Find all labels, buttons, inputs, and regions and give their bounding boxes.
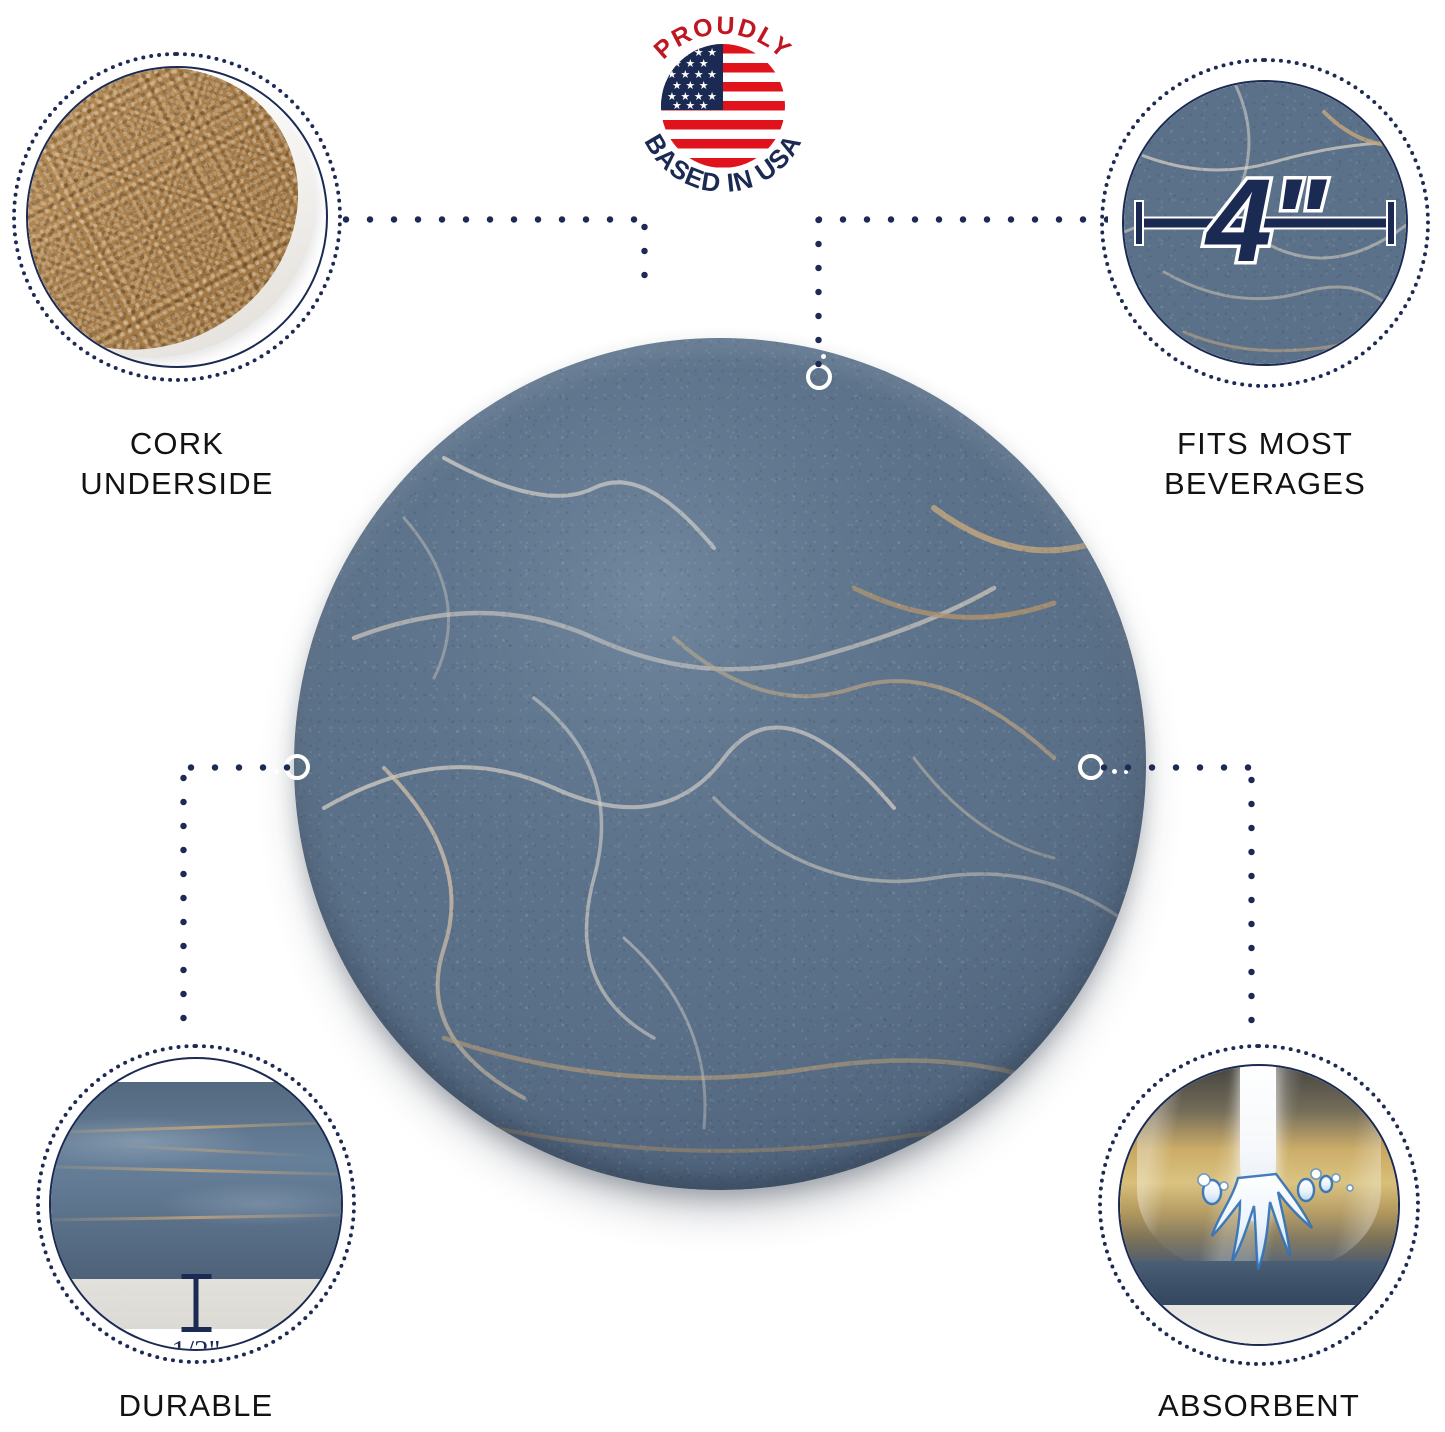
proudly-based-in-usa-badge: ★ ★ ★ ★ ★ ★ ★ ★ ★ ★ ★ ★ ★ ★ ★ ★ ★ ★ ★ ★ … xyxy=(615,2,830,210)
diameter-measure-icon: 4" xyxy=(1124,82,1406,364)
dimension-cap-right xyxy=(1386,200,1396,246)
callout-label-line: UNDERSIDE xyxy=(12,464,342,504)
callout-label-absorbent: ABSORBENT xyxy=(1098,1386,1420,1426)
connector-cork-horizontal xyxy=(335,216,645,223)
product-coaster-image xyxy=(294,338,1146,1190)
coaster-rim xyxy=(294,338,1146,1190)
callout-fits-most-beverages[interactable]: 4" xyxy=(1100,58,1430,388)
callout-label-durable: DURABLE xyxy=(36,1386,356,1426)
callout-durable[interactable]: 1/2" xyxy=(36,1044,356,1364)
stone-layer xyxy=(51,1082,341,1279)
cork-disc-icon xyxy=(28,68,326,366)
callout-label-line: ABSORBENT xyxy=(1098,1386,1420,1426)
thickness-marker xyxy=(194,1274,199,1332)
callout-cork-underside[interactable] xyxy=(12,52,342,382)
callout-absorbent[interactable] xyxy=(1098,1044,1420,1366)
callout-label-fits-most-beverages: FITS MOST BEVERAGES xyxy=(1100,424,1430,503)
svg-text:★ ★ ★: ★ ★ ★ xyxy=(672,99,709,112)
callout-label-line: FITS MOST xyxy=(1100,424,1430,464)
splash-crown xyxy=(1120,1066,1398,1344)
usa-flag-circle-icon: ★ ★ ★ ★ ★ ★ ★ ★ ★ ★ ★ ★ ★ ★ ★ ★ ★ ★ ★ ★ … xyxy=(615,2,830,210)
dimension-cap-left xyxy=(1134,200,1144,246)
connector-beverages-vertical xyxy=(815,216,822,368)
connector-cork-vertical xyxy=(641,216,648,286)
connector-beverages-horizontal xyxy=(818,216,1108,223)
callout-label-line: CORK xyxy=(12,424,342,464)
connector-durable-horizontal xyxy=(180,764,298,771)
callout-label-line: DURABLE xyxy=(36,1386,356,1426)
connector-durable-vertical xyxy=(180,764,187,1032)
callout-solid-ring: 1/2" xyxy=(49,1057,343,1351)
coaster-disc xyxy=(294,338,1146,1190)
callout-label-cork-underside: CORK UNDERSIDE xyxy=(12,424,342,503)
diameter-value: 4" xyxy=(1206,168,1324,274)
callout-solid-ring xyxy=(1118,1064,1400,1346)
connector-absorbent-horizontal xyxy=(1100,764,1252,771)
water-splash-icon xyxy=(1120,1066,1398,1344)
cross-section-icon: 1/2" xyxy=(51,1059,341,1349)
callout-solid-ring: 4" xyxy=(1122,80,1408,366)
connector-absorbent-vertical xyxy=(1248,764,1255,1036)
callout-solid-ring xyxy=(26,66,328,368)
thickness-value: 1/2" xyxy=(172,1335,221,1350)
infographic-canvas: CORK UNDERSIDE xyxy=(0,0,1445,1432)
callout-label-line: BEVERAGES xyxy=(1100,464,1430,504)
